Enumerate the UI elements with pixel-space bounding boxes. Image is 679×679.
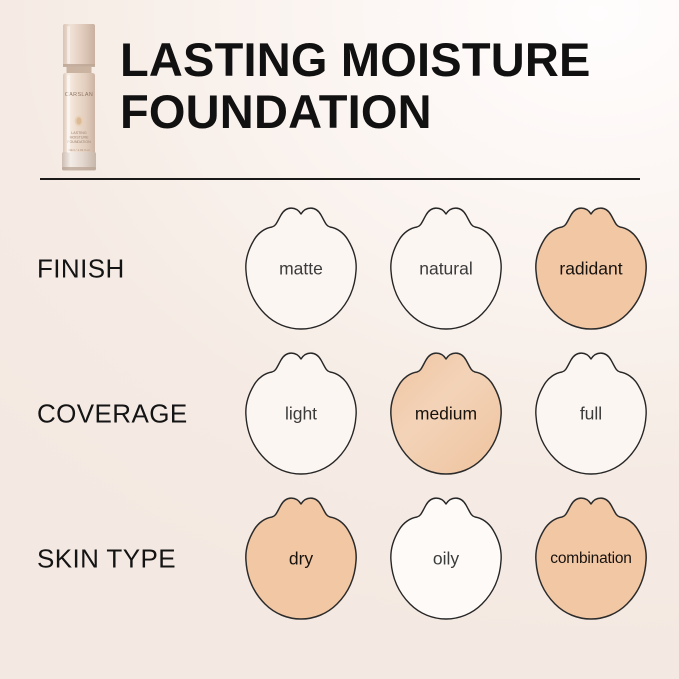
header-divider [40, 178, 640, 180]
row-label-coverage: COVERAGE [37, 398, 188, 429]
svg-text:MOISTURE: MOISTURE [70, 136, 90, 140]
attribute-rows: FINISH matte natural [0, 196, 679, 631]
title-line-1: LASTING MOISTURE [120, 34, 665, 86]
product-attribute-infographic: CARSLAN LASTING MOISTURE FOUNDATION 30ml… [0, 0, 679, 679]
svg-text:30ml / 1.01 fl.oz: 30ml / 1.01 fl.oz [68, 148, 90, 152]
header: CARSLAN LASTING MOISTURE FOUNDATION 30ml… [0, 0, 679, 190]
option-skin-type-combination[interactable]: combination [526, 494, 656, 624]
option-coverage-medium[interactable]: medium [381, 349, 511, 479]
option-finish-radidant[interactable]: radidant [526, 204, 656, 334]
option-skin-type-dry[interactable]: dry [236, 494, 366, 624]
option-coverage-light[interactable]: light [236, 349, 366, 479]
attribute-row-skin-type: SKIN TYPE dry oily [0, 486, 679, 631]
attribute-row-coverage: COVERAGE light [0, 341, 679, 486]
option-group-coverage: light medium [236, 341, 656, 486]
attribute-row-finish: FINISH matte natural [0, 196, 679, 341]
option-coverage-full[interactable]: full [526, 349, 656, 479]
option-skin-type-oily[interactable]: oily [381, 494, 511, 624]
foundation-bottle-icon: CARSLAN LASTING MOISTURE FOUNDATION 30ml… [57, 22, 101, 174]
option-finish-natural[interactable]: natural [381, 204, 511, 334]
svg-text:FOUNDATION: FOUNDATION [67, 140, 91, 144]
option-finish-matte[interactable]: matte [236, 204, 366, 334]
row-label-finish: FINISH [37, 253, 125, 284]
title-line-2: FOUNDATION [120, 86, 665, 138]
option-group-finish: matte natural radidant [236, 196, 656, 341]
option-group-skin-type: dry oily combination [236, 486, 656, 631]
svg-text:LASTING: LASTING [71, 131, 87, 135]
row-label-skin-type: SKIN TYPE [37, 543, 176, 574]
page-title: LASTING MOISTURE FOUNDATION [120, 34, 665, 138]
